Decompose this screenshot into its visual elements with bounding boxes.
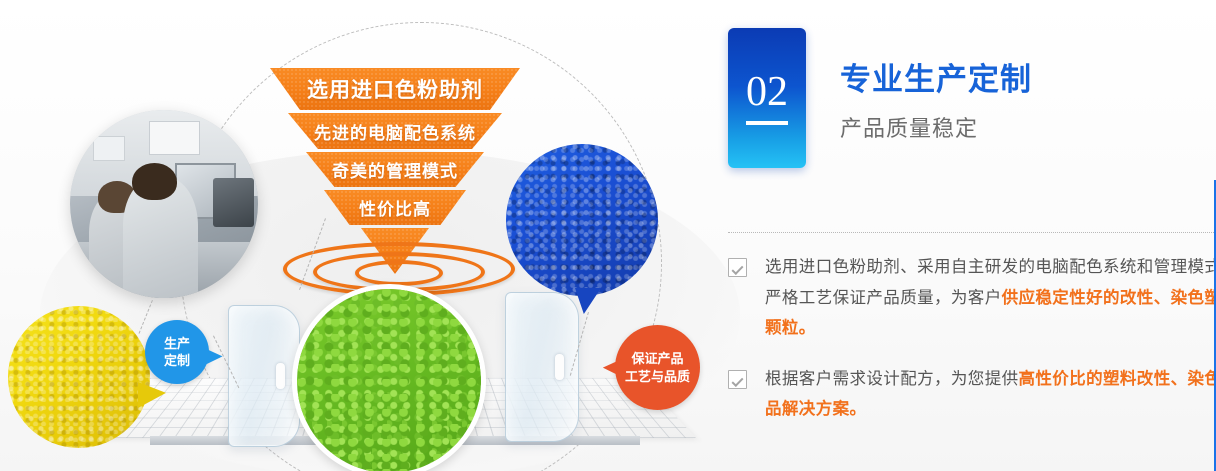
green-plastic-pellets xyxy=(292,284,486,471)
feature-text-1: 选用进口色粉助剂、采用自主研发的电脑配色系统和管理模式， 严格工艺保证产品质量，… xyxy=(765,252,1216,344)
content-panel: 02 专业生产定制 产品质量稳定 选用进口色粉助剂、采用自主研发的电脑配色系统和… xyxy=(700,0,1216,471)
yellow-pigment-powder xyxy=(8,306,150,448)
feature-1-line-2-highlight: 供应稳定性好的改性、染色塑料 xyxy=(1002,289,1216,307)
feature-1-line-2: 严格工艺保证产品质量，为客户供应稳定性好的改性、染色塑料 xyxy=(765,283,1216,314)
lab-poster-small xyxy=(93,136,125,161)
funnel-tier-1: 选用进口色粉助剂 xyxy=(270,68,520,110)
feature-1-line-2-plain: 严格工艺保证产品质量，为客户 xyxy=(765,289,1002,307)
feature-1-line-3: 颗粒。 xyxy=(765,313,1216,344)
feature-1-line-1: 选用进口色粉助剂、采用自主研发的电脑配色系统和管理模式， xyxy=(765,252,1216,283)
section-number: 02 xyxy=(746,71,788,125)
checkbox-check-icon xyxy=(728,370,747,389)
funnel-tier-3-label: 奇美的管理模式 xyxy=(332,157,458,182)
funnel-tier-2-label: 先进的电脑配色系统 xyxy=(314,119,476,144)
glass-panel-right xyxy=(505,292,579,442)
promo-banner: 选用进口色粉助剂 先进的电脑配色系统 奇美的管理模式 性价比高 生产 定制 保证… xyxy=(0,0,1216,471)
lab-person-front-head xyxy=(132,163,177,201)
process-funnel: 选用进口色粉助剂 先进的电脑配色系统 奇美的管理模式 性价比高 xyxy=(253,68,537,268)
pellets-texture xyxy=(297,289,481,471)
page-title: 专业生产定制 xyxy=(840,54,1032,99)
funnel-tier-4: 性价比高 xyxy=(324,190,466,225)
orange-ring-inner xyxy=(355,260,443,286)
funnel-tier-2: 先进的电脑配色系统 xyxy=(288,113,502,149)
glass-panel-left xyxy=(228,305,300,447)
funnel-tier-3: 奇美的管理模式 xyxy=(306,152,484,187)
feature-text-2: 根据客户需求设计配方，为您提供高性价比的塑料改性、染色产 品解决方案。 xyxy=(765,364,1216,425)
section-number-badge: 02 xyxy=(728,28,806,168)
callout-production-line2: 定制 xyxy=(164,352,190,369)
lab-instrument xyxy=(213,178,254,227)
section-header: 02 专业生产定制 产品质量稳定 xyxy=(728,28,1032,168)
funnel-tier-1-label: 选用进口色粉助剂 xyxy=(307,74,483,104)
callout-quality-assurance: 保证产品 工艺与品质 xyxy=(615,325,700,410)
photo-content xyxy=(70,110,258,298)
lab-technicians-photo xyxy=(70,110,258,298)
checkbox-check-icon xyxy=(728,258,747,277)
callout-production-line1: 生产 xyxy=(164,335,190,352)
list-item: 选用进口色粉助剂、采用自主研发的电脑配色系统和管理模式， 严格工艺保证产品质量，… xyxy=(728,252,1216,344)
page-subtitle: 产品质量稳定 xyxy=(840,111,1032,143)
callout-production-custom: 生产 定制 xyxy=(145,320,209,384)
section-heading-group: 专业生产定制 产品质量稳定 xyxy=(840,54,1032,143)
funnel-tier-4-label: 性价比高 xyxy=(359,195,431,220)
header-divider xyxy=(728,232,1216,233)
yellow-powder-texture xyxy=(8,306,150,448)
feature-list: 选用进口色粉助剂、采用自主研发的电脑配色系统和管理模式， 严格工艺保证产品质量，… xyxy=(728,252,1216,445)
list-item: 根据客户需求设计配方，为您提供高性价比的塑料改性、染色产 品解决方案。 xyxy=(728,364,1216,425)
feature-2-line-1: 根据客户需求设计配方，为您提供高性价比的塑料改性、染色产 xyxy=(765,364,1216,395)
lab-poster xyxy=(149,121,200,155)
feature-2-line-2: 品解决方案。 xyxy=(765,394,1216,425)
feature-2-line-1-plain: 根据客户需求设计配方，为您提供 xyxy=(765,370,1019,388)
callout-quality-line2: 工艺与品质 xyxy=(625,368,690,385)
callout-quality-line1: 保证产品 xyxy=(631,350,683,367)
feature-2-line-1-highlight: 高性价比的塑料改性、染色产 xyxy=(1019,370,1216,388)
